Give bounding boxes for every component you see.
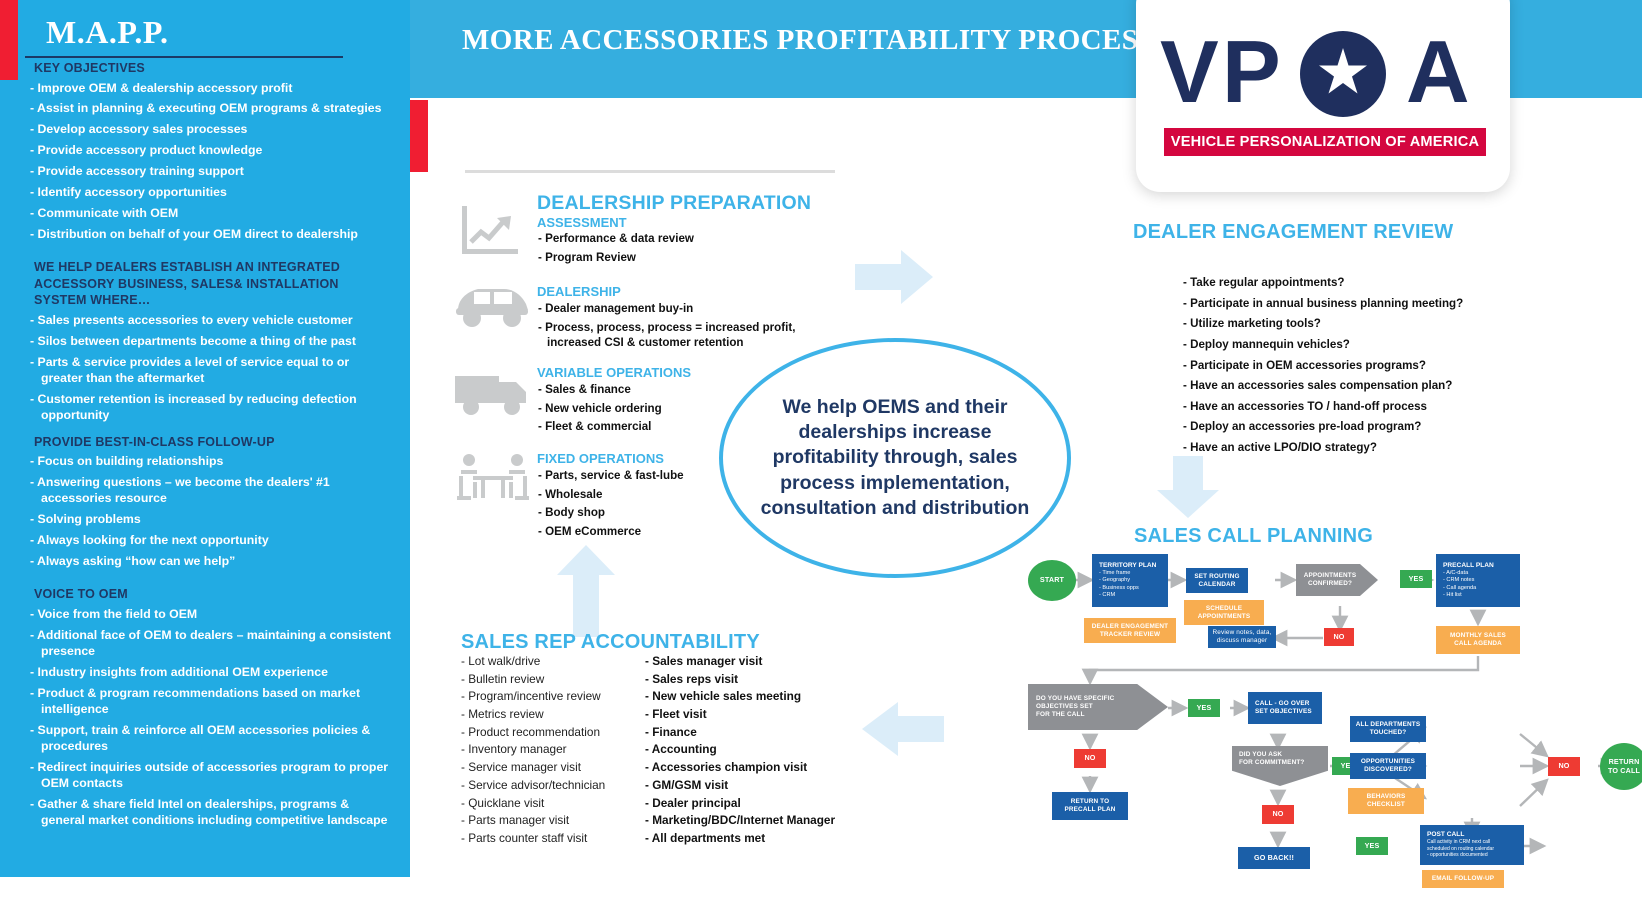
flow-node-no-2[interactable]: NO: [1074, 749, 1106, 768]
fixed-ops-items: - Parts, service & fast-lube - Wholesale…: [538, 468, 688, 543]
flow-node-monthly-sales-call-agenda[interactable]: MONTHLY SALES CALL AGENDA: [1436, 626, 1520, 654]
list-item: - Always asking “how can we help”: [30, 554, 394, 570]
list-item: - Parts, service & fast-lube: [538, 468, 688, 484]
list-item: - Identify accessory opportunities: [30, 185, 394, 201]
section-title-dealership-preparation: DEALERSHIP PREPARATION: [537, 192, 811, 215]
sidebar-divider: [25, 56, 343, 58]
red-accent-bar-top: [0, 0, 18, 80]
list-item: - Voice from the field to OEM: [30, 607, 394, 623]
flow-node-label: ALL DEPARTMENTS TOUCHED?: [1356, 721, 1421, 737]
logo-wordmark: VEHICLE PERSONALIZATION OF AMERICA: [1164, 128, 1486, 156]
flow-node-label: YES: [1409, 575, 1424, 584]
vpoa-logo: V P A VEHICLE PERSONALIZATION OF AMERICA: [1160, 28, 1490, 168]
flow-node-yes-4[interactable]: YES: [1356, 837, 1388, 855]
list-item: - Participate in annual business plannin…: [1183, 296, 1513, 312]
list-item: - Dealer management buy-in: [538, 301, 828, 317]
flow-node-label: YES: [1197, 704, 1212, 713]
flow-node-behaviors-checklist[interactable]: BEHAVIORS CHECKLIST: [1348, 788, 1424, 814]
flow-node-label: Review notes, data, discuss manager: [1213, 629, 1272, 645]
flow-node-label: START: [1040, 576, 1064, 585]
flow-node-list: Call activity in CRM next call scheduled…: [1420, 839, 1524, 859]
section-title-sales-call-planning: SALES CALL PLANNING: [1134, 525, 1373, 548]
flow-node-label: YES: [1365, 842, 1380, 851]
value-proposition-oval: We help OEMS and their dealerships incre…: [719, 338, 1071, 578]
flow-node-label: GO BACK!!: [1254, 854, 1294, 863]
sidebar-heading-voice-to-oem: VOICE TO OEM: [34, 586, 394, 603]
flow-node-label: NO: [1558, 762, 1569, 771]
list-item: - Develop accessory sales processes: [30, 122, 394, 138]
list-item: - Program/incentive review: [461, 688, 651, 706]
list-item: - Silos between departments become a thi…: [30, 334, 394, 350]
section-divider: [465, 170, 835, 173]
car-icon: [452, 280, 532, 328]
list-item: - Metrics review: [461, 706, 651, 724]
list-item: - Have an accessories sales compensation…: [1183, 378, 1513, 394]
list-item: - Quicklane visit: [461, 795, 651, 813]
red-accent-bar-mid: [410, 100, 428, 172]
list-item: - GM/GSM visit: [645, 777, 855, 795]
flow-node-label: DO YOU HAVE SPECIFIC OBJECTIVES SET FOR …: [1028, 695, 1168, 718]
list-item: - All departments met: [645, 830, 855, 848]
list-item: - Gather & share field Intel on dealersh…: [30, 797, 394, 829]
flow-node-heading: TERRITORY PLAN: [1092, 562, 1168, 569]
list-item: - Accessories champion visit: [645, 759, 855, 777]
list-item: - Sales presents accessories to every ve…: [30, 313, 394, 329]
list-item: - OEM eCommerce: [538, 524, 688, 540]
flow-node-appointments-confirmed[interactable]: APPOINTMENTS CONFIRMED?: [1296, 564, 1378, 596]
flow-node-territory-plan[interactable]: TERRITORY PLAN - Time frame - Geography …: [1092, 554, 1168, 607]
sidebar-heading-key-objectives: KEY OBJECTIVES: [34, 60, 394, 77]
list-item: - Performance & data review: [538, 231, 838, 247]
list-item: - Provide accessory training support: [30, 164, 394, 180]
flow-node-label: SCHEDULE APPOINTMENTS: [1198, 605, 1251, 621]
mapp-title: M.A.P.P.: [46, 14, 169, 51]
assessment-items: - Performance & data review - Program Re…: [538, 231, 838, 268]
flow-node-go-back[interactable]: GO BACK!!: [1238, 847, 1310, 869]
list-item: - Customer retention is increased by red…: [30, 392, 394, 424]
list-item: - Have an active LPO/DIO strategy?: [1183, 440, 1513, 456]
flow-node-label: APPOINTMENTS CONFIRMED?: [1304, 572, 1371, 588]
engagement-items: - Take regular appointments? - Participa…: [1183, 275, 1513, 461]
list-item: - Solving problems: [30, 512, 394, 528]
list-item: - Lot walk/drive: [461, 653, 651, 671]
flow-node-heading: POST CALL: [1420, 831, 1524, 838]
flow-node-label: DID YOU ASK FOR COMMITMENT?: [1232, 746, 1328, 767]
list-item: - Communicate with OEM: [30, 206, 394, 222]
flow-node-all-departments-touched[interactable]: ALL DEPARTMENTS TOUCHED?: [1350, 716, 1426, 742]
flow-node-label: BEHAVIORS CHECKLIST: [1367, 793, 1406, 809]
list-item: - Redirect inquiries outside of accessor…: [30, 760, 394, 792]
list-item: - Product & program recommendations base…: [30, 686, 394, 718]
list-item: - Utilize marketing tools?: [1183, 316, 1513, 332]
flow-node-label: EMAIL FOLLOW-UP: [1432, 875, 1494, 883]
logo-letter-v: V: [1160, 28, 1217, 116]
flow-node-label: MONTHLY SALES CALL AGENDA: [1450, 632, 1506, 648]
logo-wordmark-bar: VEHICLE PERSONALIZATION OF AMERICA: [1164, 128, 1486, 156]
list-item: - Sales manager visit: [645, 653, 855, 671]
flow-node-objectives-set[interactable]: DO YOU HAVE SPECIFIC OBJECTIVES SET FOR …: [1028, 684, 1168, 730]
flow-node-yes-1[interactable]: YES: [1400, 570, 1432, 588]
arrow-up-icon: [555, 545, 617, 637]
list-item: - Bulletin review: [461, 671, 651, 689]
flow-node-post-call[interactable]: POST CALL Call activity in CRM next call…: [1420, 825, 1524, 865]
accountability-right-column: - Sales manager visit - Sales reps visit…: [645, 653, 855, 848]
flow-node-label: NO: [1272, 810, 1283, 819]
list-item: - Deploy an accessories pre-load program…: [1183, 419, 1513, 435]
sales-call-planning-flowchart: START TERRITORY PLAN - Time frame - Geog…: [1020, 548, 1620, 858]
flow-node-return-to-call[interactable]: RETURN TO CALL: [1600, 743, 1642, 790]
flow-node-label: CALL - GO OVER SET OBJECTIVES: [1248, 700, 1322, 716]
page-title: MORE ACCESSORIES PROFITABILITY PROCESS: [462, 24, 1162, 57]
subsection-variable-ops-label: VARIABLE OPERATIONS: [537, 365, 691, 380]
list-item: - Participate in OEM accessories program…: [1183, 358, 1513, 374]
arrow-left-icon: [862, 700, 944, 758]
accountability-left-column: - Lot walk/drive - Bulletin review - Pro…: [461, 653, 651, 848]
sidebar-heading-follow-up: PROVIDE BEST-IN-CLASS FOLLOW-UP: [34, 434, 394, 451]
flow-node-review-notes[interactable]: Review notes, data, discuss manager: [1208, 626, 1276, 648]
list-item: - Process, process, process = increased …: [538, 320, 828, 351]
list-item: - Parts counter staff visit: [461, 830, 651, 848]
vpoa-letters: V P A: [1160, 28, 1490, 120]
line-chart-icon: [459, 204, 523, 260]
list-item: - Dealer principal: [645, 795, 855, 813]
flow-node-did-you-ask-commitment[interactable]: DID YOU ASK FOR COMMITMENT?: [1232, 746, 1328, 786]
infographic-page: M.A.P.P. KEY OBJECTIVES - Improve OEM & …: [0, 0, 1642, 916]
flow-node-label: RETURN TO CALL: [1608, 758, 1640, 776]
list-item: - Parts manager visit: [461, 812, 651, 830]
list-item: - Service advisor/technician: [461, 777, 651, 795]
flow-node-set-routing-calendar[interactable]: SET ROUTING CALENDAR: [1186, 568, 1248, 593]
list-item: - Answering questions – we become the de…: [30, 475, 394, 507]
list-item: - Assist in planning & executing OEM pro…: [30, 101, 394, 117]
list-item: - Additional face of OEM to dealers – ma…: [30, 628, 394, 660]
flow-node-label: OPPORTUNITIES DISCOVERED?: [1361, 758, 1415, 774]
subsection-dealership-label: DEALERSHIP: [537, 284, 621, 299]
flow-node-label: NO: [1333, 633, 1344, 642]
section-title-sales-rep-accountability: SALES REP ACCOUNTABILITY: [461, 631, 760, 654]
flow-node-heading: PRECALL PLAN: [1436, 562, 1520, 569]
flow-node-email-followup[interactable]: EMAIL FOLLOW-UP: [1422, 870, 1504, 888]
section-title-dealer-engagement-review: DEALER ENGAGEMENT REVIEW: [1133, 221, 1453, 244]
list-item: - Take regular appointments?: [1183, 275, 1513, 291]
flow-node-dealer-engagement-tracker[interactable]: DEALER ENGAGEMENT TRACKER REVIEW: [1084, 618, 1176, 643]
table-people-icon: [455, 452, 531, 504]
list-item: - Body shop: [538, 505, 688, 521]
list-item: - Focus on building relationships: [30, 454, 394, 470]
flow-node-yes-2[interactable]: YES: [1188, 699, 1220, 717]
logo-letter-p: P: [1222, 28, 1279, 116]
list-item: - Marketing/BDC/Internet Manager: [645, 812, 855, 830]
list-item: - Sales reps visit: [645, 671, 855, 689]
flow-node-no-1[interactable]: NO: [1324, 628, 1354, 646]
flow-node-no-4[interactable]: NO: [1548, 757, 1580, 776]
list-item: - Product recommendation: [461, 724, 651, 742]
flow-node-label: RETURN TO PRECALL PLAN: [1064, 798, 1115, 814]
flow-node-label: NO: [1084, 754, 1095, 763]
value-proposition-text: We help OEMS and their dealerships incre…: [745, 395, 1045, 522]
list-item: - Have an accessories TO / hand-off proc…: [1183, 399, 1513, 415]
list-item: - Industry insights from additional OEM …: [30, 665, 394, 681]
list-item: - Wholesale: [538, 487, 688, 503]
flow-node-list: - Time frame - Geography - Business opps…: [1092, 570, 1168, 600]
flow-node-label: DEALER ENGAGEMENT TRACKER REVIEW: [1092, 623, 1168, 639]
arrow-right-icon: [855, 248, 933, 306]
sidebar-heading-integrated-system: WE HELP DEALERS ESTABLISH AN INTEGRATED …: [34, 259, 394, 309]
truck-icon: [452, 368, 532, 416]
sidebar-content: KEY OBJECTIVES - Improve OEM & dealershi…: [24, 60, 394, 834]
flow-node-label: SET ROUTING CALENDAR: [1194, 573, 1239, 589]
list-item: - Finance: [645, 724, 855, 742]
list-item: - Support, train & reinforce all OEM acc…: [30, 723, 394, 755]
flow-node-start[interactable]: START: [1028, 560, 1076, 601]
list-item: - Always looking for the next opportunit…: [30, 533, 394, 549]
flow-node-list: - A/C-data - CRM notes - Call agenda - H…: [1436, 570, 1520, 600]
list-item: - Inventory manager: [461, 741, 651, 759]
flow-node-opportunities-discovered[interactable]: OPPORTUNITIES DISCOVERED?: [1350, 753, 1426, 779]
list-item: - Improve OEM & dealership accessory pro…: [30, 81, 394, 97]
flow-node-precall-plan[interactable]: PRECALL PLAN - A/C-data - CRM notes - Ca…: [1436, 554, 1520, 607]
subsection-fixed-ops-label: FIXED OPERATIONS: [537, 451, 664, 466]
list-item: - Fleet visit: [645, 706, 855, 724]
list-item: - New vehicle sales meeting: [645, 688, 855, 706]
flow-node-no-3[interactable]: NO: [1262, 805, 1294, 824]
left-sidebar: M.A.P.P. KEY OBJECTIVES - Improve OEM & …: [0, 0, 410, 877]
flow-node-call-go-over-objectives[interactable]: CALL - GO OVER SET OBJECTIVES: [1248, 692, 1322, 724]
dealership-items: - Dealer management buy-in - Process, pr…: [538, 301, 828, 354]
list-item: - Deploy mannequin vehicles?: [1183, 337, 1513, 353]
list-item: - Distribution on behalf of your OEM dir…: [30, 227, 394, 243]
list-item: - Service manager visit: [461, 759, 651, 777]
list-item: - Accounting: [645, 741, 855, 759]
subsection-assessment-label: ASSESSMENT: [537, 215, 627, 230]
list-item: - Provide accessory product knowledge: [30, 143, 394, 159]
list-item: - Program Review: [538, 250, 838, 266]
flow-node-schedule-appointments[interactable]: SCHEDULE APPOINTMENTS: [1184, 600, 1264, 625]
list-item: - Parts & service provides a level of se…: [30, 355, 394, 387]
flow-node-return-to-precall-plan[interactable]: RETURN TO PRECALL PLAN: [1052, 792, 1128, 820]
logo-letter-a: A: [1406, 28, 1468, 116]
arrow-down-icon: [1155, 456, 1221, 518]
